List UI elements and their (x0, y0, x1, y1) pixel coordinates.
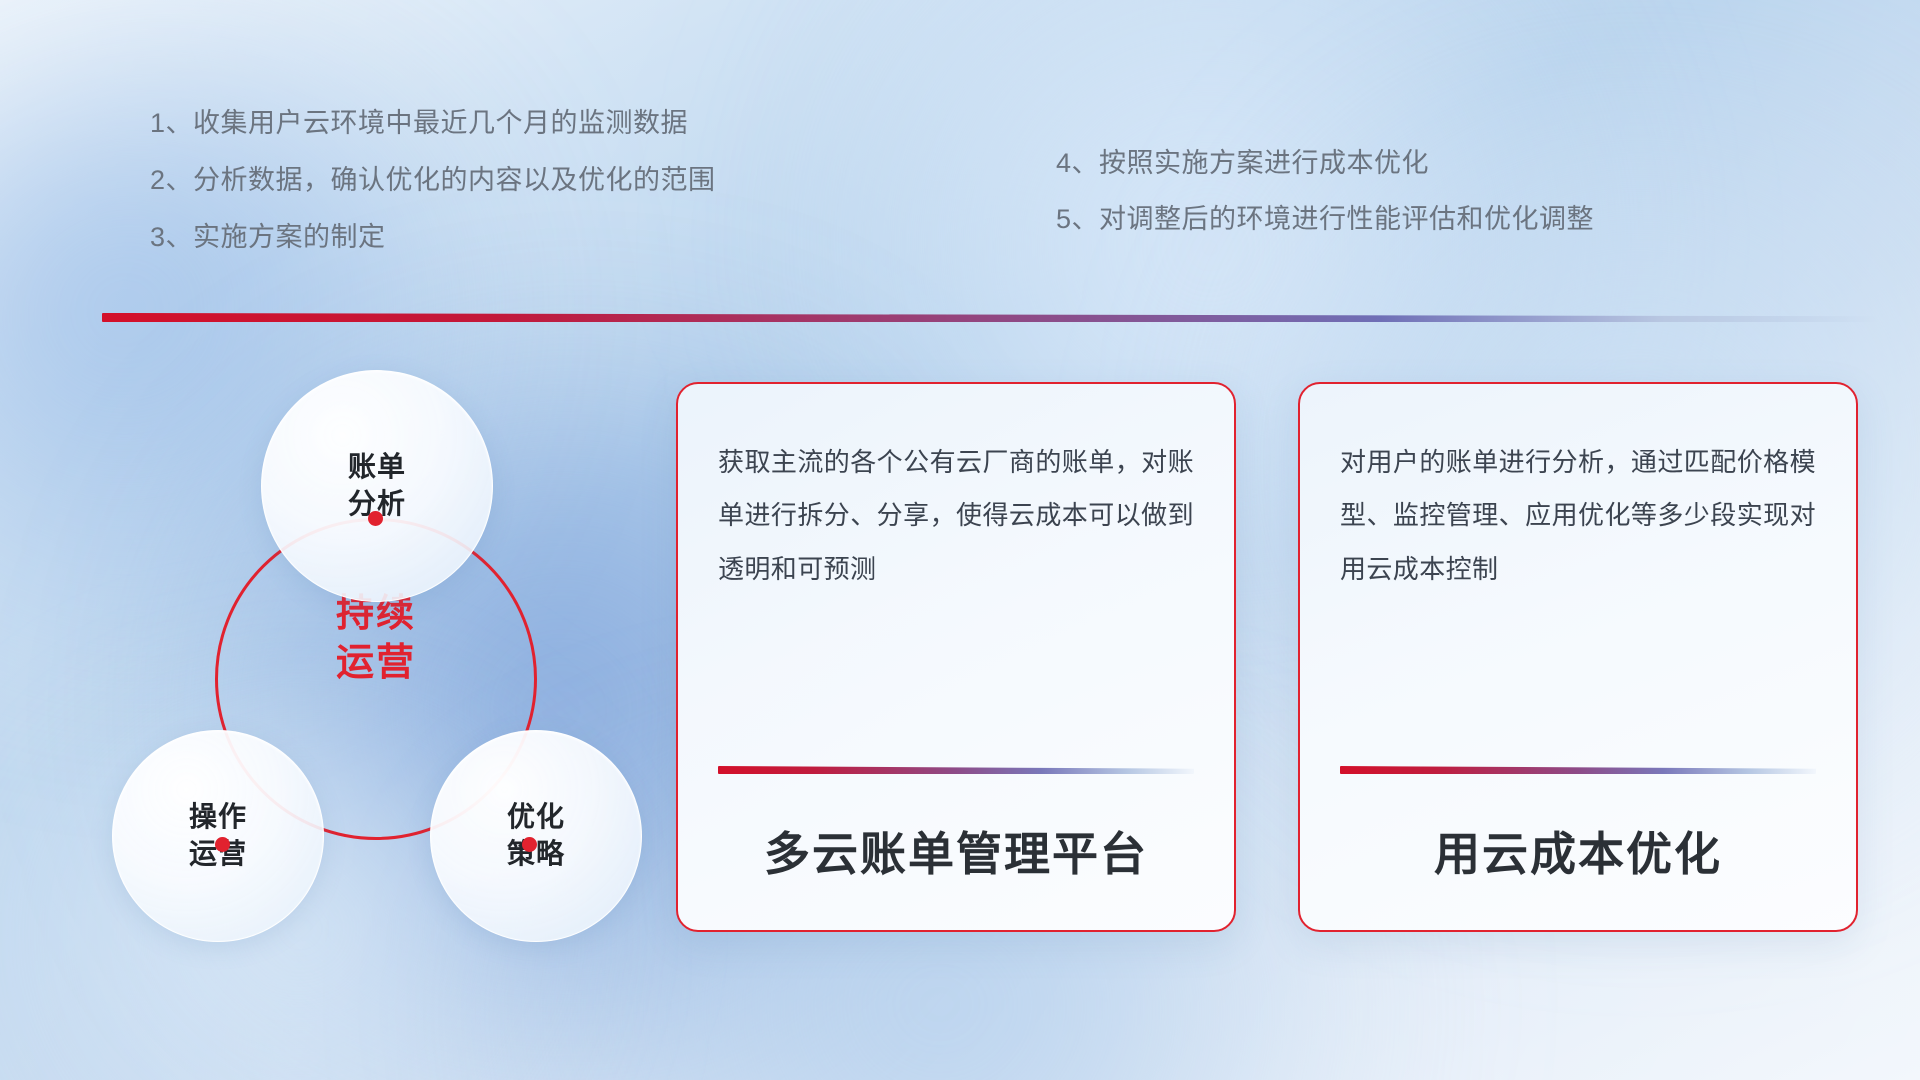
node-dot-left (215, 837, 230, 852)
card-title: 多云账单管理平台 (718, 818, 1194, 884)
card-body-text: 获取主流的各个公有云厂商的账单，对账单进行拆分、分享，使得云成本可以做到透明和可… (718, 436, 1194, 596)
steps-column-left: 1、收集用户云环境中最近几个月的监测数据 2、分析数据，确认优化的内容以及优化的… (150, 110, 1010, 281)
node-dot-right (522, 837, 537, 852)
bubble-billing-analysis[interactable]: 账单 分析 (261, 370, 493, 602)
continuous-operation-diagram: 持续 运营 账单 分析 操作 运营 优化 策略 (100, 350, 620, 970)
center-label-line-2: 运营 (215, 639, 537, 688)
card-cloud-cost-optimization[interactable]: 对用户的账单进行分析，通过匹配价格模型、监控管理、应用优化等多少段实现对用云成本… (1298, 382, 1858, 932)
bubble-operation-label: 操作 运营 (189, 799, 247, 873)
step-item-1: 1、收集用户云环境中最近几个月的监测数据 (150, 110, 1010, 137)
card-title: 用云成本优化 (1340, 818, 1816, 884)
bubble-line-1: 账单 (348, 449, 406, 486)
card-divider (1340, 766, 1816, 774)
card-divider (718, 766, 1194, 774)
bubble-line-1: 操作 (189, 799, 247, 836)
step-item-3: 3、实施方案的制定 (150, 224, 1010, 251)
steps-column-right: 4、按照实施方案进行成本优化 5、对调整后的环境进行性能评估和优化调整 (1056, 110, 1836, 281)
steps-list: 1、收集用户云环境中最近几个月的监测数据 2、分析数据，确认优化的内容以及优化的… (150, 110, 1850, 281)
center-label: 持续 运营 (215, 590, 537, 689)
step-item-2: 2、分析数据，确认优化的内容以及优化的范围 (150, 167, 1010, 194)
bubble-optimization-strategy-label: 优化 策略 (507, 799, 565, 873)
cards-container: 获取主流的各个公有云厂商的账单，对账单进行拆分、分享，使得云成本可以做到透明和可… (676, 382, 1858, 932)
step-item-4: 4、按照实施方案进行成本优化 (1056, 150, 1836, 177)
node-dot-top (368, 511, 383, 526)
bubble-optimization-strategy[interactable]: 优化 策略 (430, 730, 642, 942)
card-multi-cloud-billing[interactable]: 获取主流的各个公有云厂商的账单，对账单进行拆分、分享，使得云成本可以做到透明和可… (676, 382, 1236, 932)
card-body-text: 对用户的账单进行分析，通过匹配价格模型、监控管理、应用优化等多少段实现对用云成本… (1340, 436, 1816, 596)
bubble-line-1: 优化 (507, 799, 565, 836)
step-item-5: 5、对调整后的环境进行性能评估和优化调整 (1056, 206, 1836, 233)
bubble-operation[interactable]: 操作 运营 (112, 730, 324, 942)
